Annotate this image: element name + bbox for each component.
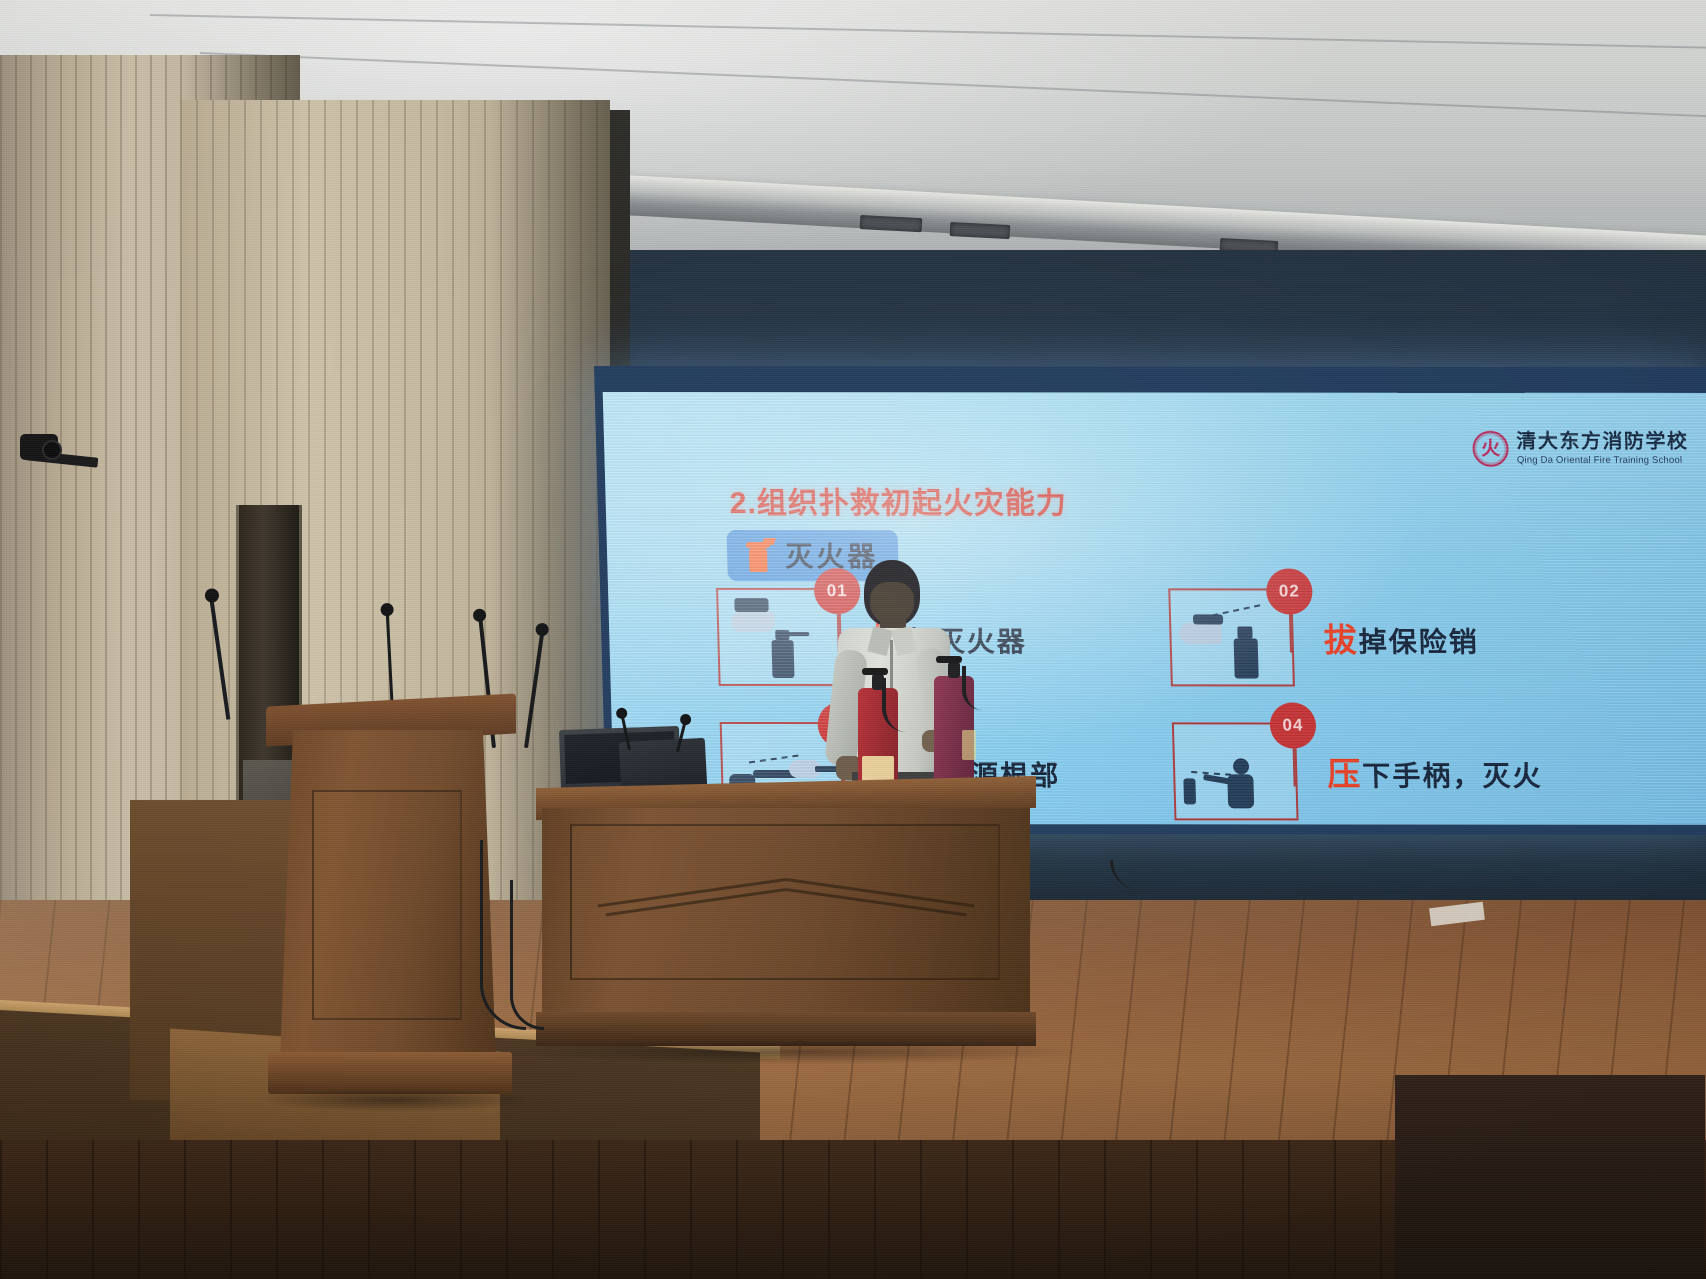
school-logo: 火 清大东方消防学校 Qing Da Oriental Fire Trainin… <box>1472 431 1689 467</box>
camera-body <box>20 434 58 460</box>
wooden-podium <box>266 700 516 1120</box>
desk-chevron-ornament <box>596 844 976 904</box>
wall-mounted-camera <box>6 420 102 480</box>
extinguisher-label <box>962 730 976 760</box>
hand-pulling-pin-icon <box>1176 596 1286 678</box>
fire-seal-icon: 火 <box>1472 431 1509 467</box>
extinguisher-handle <box>936 656 962 663</box>
step-illustration: 02 <box>1168 588 1295 686</box>
step-highlight-char: 压 <box>1327 755 1363 792</box>
floor-cable <box>510 880 544 1030</box>
step-text: 拔掉保险销 <box>1323 614 1479 662</box>
extinguisher-neck <box>948 662 960 678</box>
logo-name-cn: 清大东方消防学校 <box>1516 432 1689 453</box>
step-number-badge: 04 <box>1269 702 1316 748</box>
conference-desk <box>536 782 1036 1050</box>
person-squeezing-handle-icon <box>1180 730 1290 812</box>
led-display-screen: 火 清大东方消防学校 Qing Da Oriental Fire Trainin… <box>594 366 1706 835</box>
desk-shadow <box>516 1040 1076 1064</box>
podium-front-panel <box>312 790 462 1020</box>
fire-extinguisher-icon <box>743 538 774 572</box>
extinguisher-handle <box>862 668 888 675</box>
step-rest-text: 下手柄，灭火 <box>1362 761 1543 792</box>
slide-title: 2.组织扑救初起火灾能力 <box>729 478 1067 522</box>
floor-dark-panel <box>1395 1075 1705 1279</box>
step-item: 04 压下手柄，灭火 <box>1172 722 1544 820</box>
camera-lens-icon <box>42 440 62 460</box>
step-stem <box>1293 746 1296 786</box>
step-stem <box>1289 613 1292 653</box>
step-highlight-char: 拔 <box>1323 622 1359 659</box>
logo-name-en: Qing Da Oriental Fire Training School <box>1517 455 1689 466</box>
lecture-hall-photo: 火 清大东方消防学校 Qing Da Oriental Fire Trainin… <box>0 0 1706 1279</box>
step-item: 02 拔掉保险销 <box>1168 588 1480 686</box>
step-text: 压下手柄，灭火 <box>1327 747 1543 795</box>
presentation-slide: 火 清大东方消防学校 Qing Da Oriental Fire Trainin… <box>603 392 1706 825</box>
step-rest-text: 掉保险销 <box>1358 627 1479 658</box>
slide-surface: 火 清大东方消防学校 Qing Da Oriental Fire Trainin… <box>603 392 1706 825</box>
podium-shadow <box>256 1088 536 1112</box>
step-illustration: 04 <box>1172 722 1299 820</box>
step-number-badge: 02 <box>1266 569 1313 615</box>
